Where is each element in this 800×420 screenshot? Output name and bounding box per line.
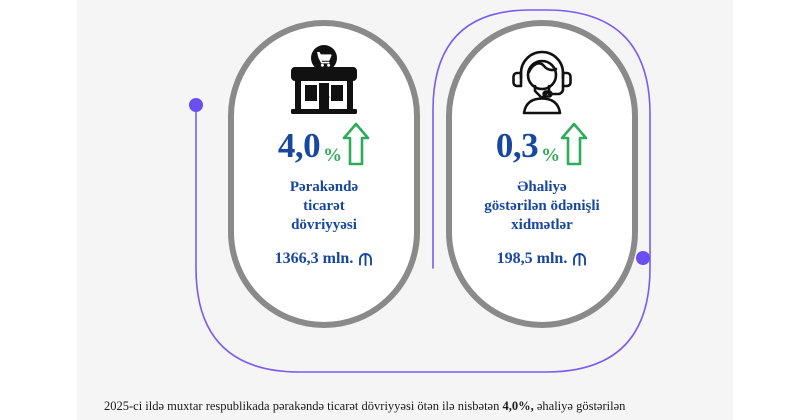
card-label-line: Pərakəndə <box>244 178 404 197</box>
card-label-line: xidmətlər <box>462 216 622 235</box>
arrow-up-icon <box>342 122 370 171</box>
caption-highlight: 4,0%, <box>502 399 533 413</box>
caption-text: 2025-ci ildə muxtar respublikada pərakən… <box>104 398 704 414</box>
stat-card-paid-services: 0,3 % Əhaliyə göstərilən ödənişli xidmət… <box>446 20 638 328</box>
card-label-line: göstərilən ödənişli <box>462 197 622 216</box>
stat-value: 4,0 <box>278 124 320 168</box>
card-label: Pərakəndə ticarət dövriyyəsi <box>244 178 404 235</box>
caption-part-2: əhaliyə göstərilən <box>534 399 626 413</box>
card-label-line: ticarət <box>244 197 404 216</box>
headset-support-agent-icon <box>506 44 578 118</box>
card-label-line: Əhaliyə <box>462 178 622 197</box>
amount-value: 198,5 mln. <box>497 249 568 269</box>
stat-row-retail: 4,0 % <box>278 124 370 172</box>
stat-card-retail-trade: 4,0 % Pərakəndə ticarət dövriyyəsi 1366,… <box>228 20 420 328</box>
decor-dot-right <box>636 251 650 265</box>
card-label: Əhaliyə göstərilən ödənişli xidmətlər <box>462 178 622 235</box>
manat-icon <box>572 251 587 267</box>
stat-row-services: 0,3 % <box>496 124 588 172</box>
percent-symbol: % <box>323 146 342 165</box>
infographic-canvas: 4,0 % Pərakəndə ticarət dövriyyəsi 1366,… <box>0 0 800 420</box>
card-amount: 198,5 mln. <box>457 249 627 269</box>
card-label-line: dövriyyəsi <box>244 216 404 235</box>
manat-icon <box>358 251 373 267</box>
amount-value: 1366,3 mln. <box>275 249 354 269</box>
arrow-up-icon <box>560 122 588 171</box>
storefront-shopping-cart-icon <box>287 44 361 118</box>
decor-dot-left <box>189 98 203 112</box>
stat-value: 0,3 <box>496 124 538 168</box>
card-amount: 1366,3 mln. <box>239 249 409 269</box>
percent-symbol: % <box>541 146 560 165</box>
caption-part-1: 2025-ci ildə muxtar respublikada pərakən… <box>104 399 502 413</box>
